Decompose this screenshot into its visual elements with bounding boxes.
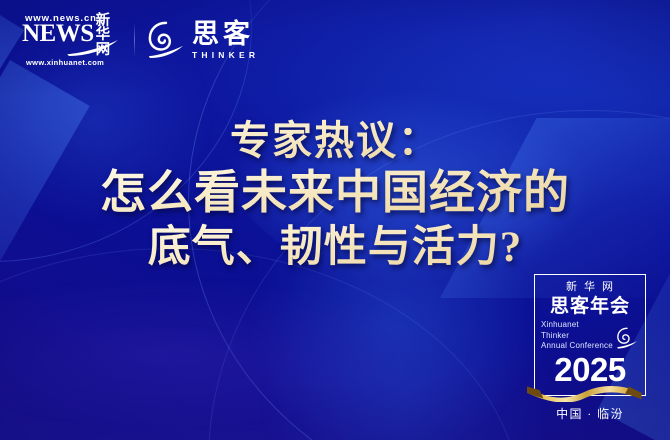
thinker-logo[interactable]: 思客 THINKER — [147, 20, 260, 60]
conference-badge[interactable]: 新华网 思客年会 Xinhuanet Thinker Annual Confer… — [534, 274, 646, 422]
title-line-2: 怎么看未来中国经济的 — [0, 165, 670, 222]
badge-frame: 新华网 思客年会 Xinhuanet Thinker Annual Confer… — [534, 274, 646, 396]
badge-organization-cn: 新华网 — [547, 282, 639, 293]
badge-year: 2025 — [541, 353, 639, 386]
xinhuanet-url-bottom: www.xinhuanet.com — [26, 59, 118, 67]
badge-event-name-en: Xinhuanet Thinker Annual Conference — [541, 320, 613, 352]
badge-english-row: Xinhuanet Thinker Annual Conference — [541, 320, 639, 352]
xinhuanet-logo[interactable]: www.news.cn NEWS 新华网 www.xinhuanet.com — [22, 14, 118, 66]
poster-canvas: www.news.cn NEWS 新华网 www.xinhuanet.com 思… — [0, 0, 670, 440]
xinhuanet-wordmark-line: NEWS — [22, 27, 94, 41]
thinker-spiral-icon — [615, 326, 639, 350]
thinker-spiral-icon — [147, 20, 185, 60]
poster-title: 专家热议： 怎么看未来中国经济的 底气、韧性与活力? — [0, 116, 670, 275]
thinker-name-cn: 思客 — [192, 21, 260, 48]
badge-city: 中国 · 临汾 — [534, 405, 646, 422]
badge-en-line-1: Xinhuanet — [541, 320, 613, 331]
swoosh-icon — [64, 40, 122, 56]
logo-divider — [134, 23, 135, 57]
title-line-3: 底气、韧性与活力? — [0, 222, 670, 275]
thinker-name-en: THINKER — [192, 51, 259, 60]
title-line-1: 专家热议： — [0, 116, 670, 165]
badge-en-line-2: Thinker — [541, 331, 613, 342]
header-logo-bar: www.news.cn NEWS 新华网 www.xinhuanet.com 思… — [22, 14, 260, 66]
badge-event-name-cn: 思客年会 — [541, 297, 639, 317]
